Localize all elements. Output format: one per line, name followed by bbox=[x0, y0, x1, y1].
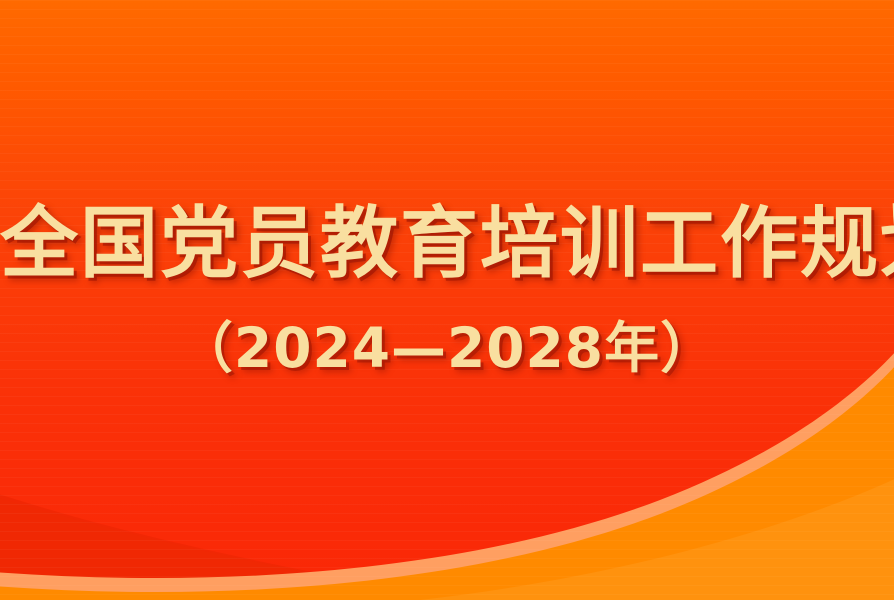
orange-swoosh-inner-curve bbox=[420, 470, 894, 600]
dark-red-diagonal-band bbox=[0, 488, 894, 600]
poster-banner: 全国党员教育培训工作规划 （2024—2028年） bbox=[0, 0, 894, 600]
title-block: 全国党员教育培训工作规划 （2024—2028年） bbox=[0, 0, 894, 600]
subtitle-year-range: （2024—2028年） bbox=[0, 312, 894, 384]
dark-red-diagonal-band-edge bbox=[0, 492, 894, 600]
main-title: 全国党员教育培训工作规划 bbox=[0, 198, 894, 290]
scanline-texture bbox=[0, 0, 894, 600]
orange-swoosh bbox=[0, 344, 894, 600]
background-decoration bbox=[0, 0, 894, 600]
swoosh-highlight-band bbox=[0, 330, 894, 600]
